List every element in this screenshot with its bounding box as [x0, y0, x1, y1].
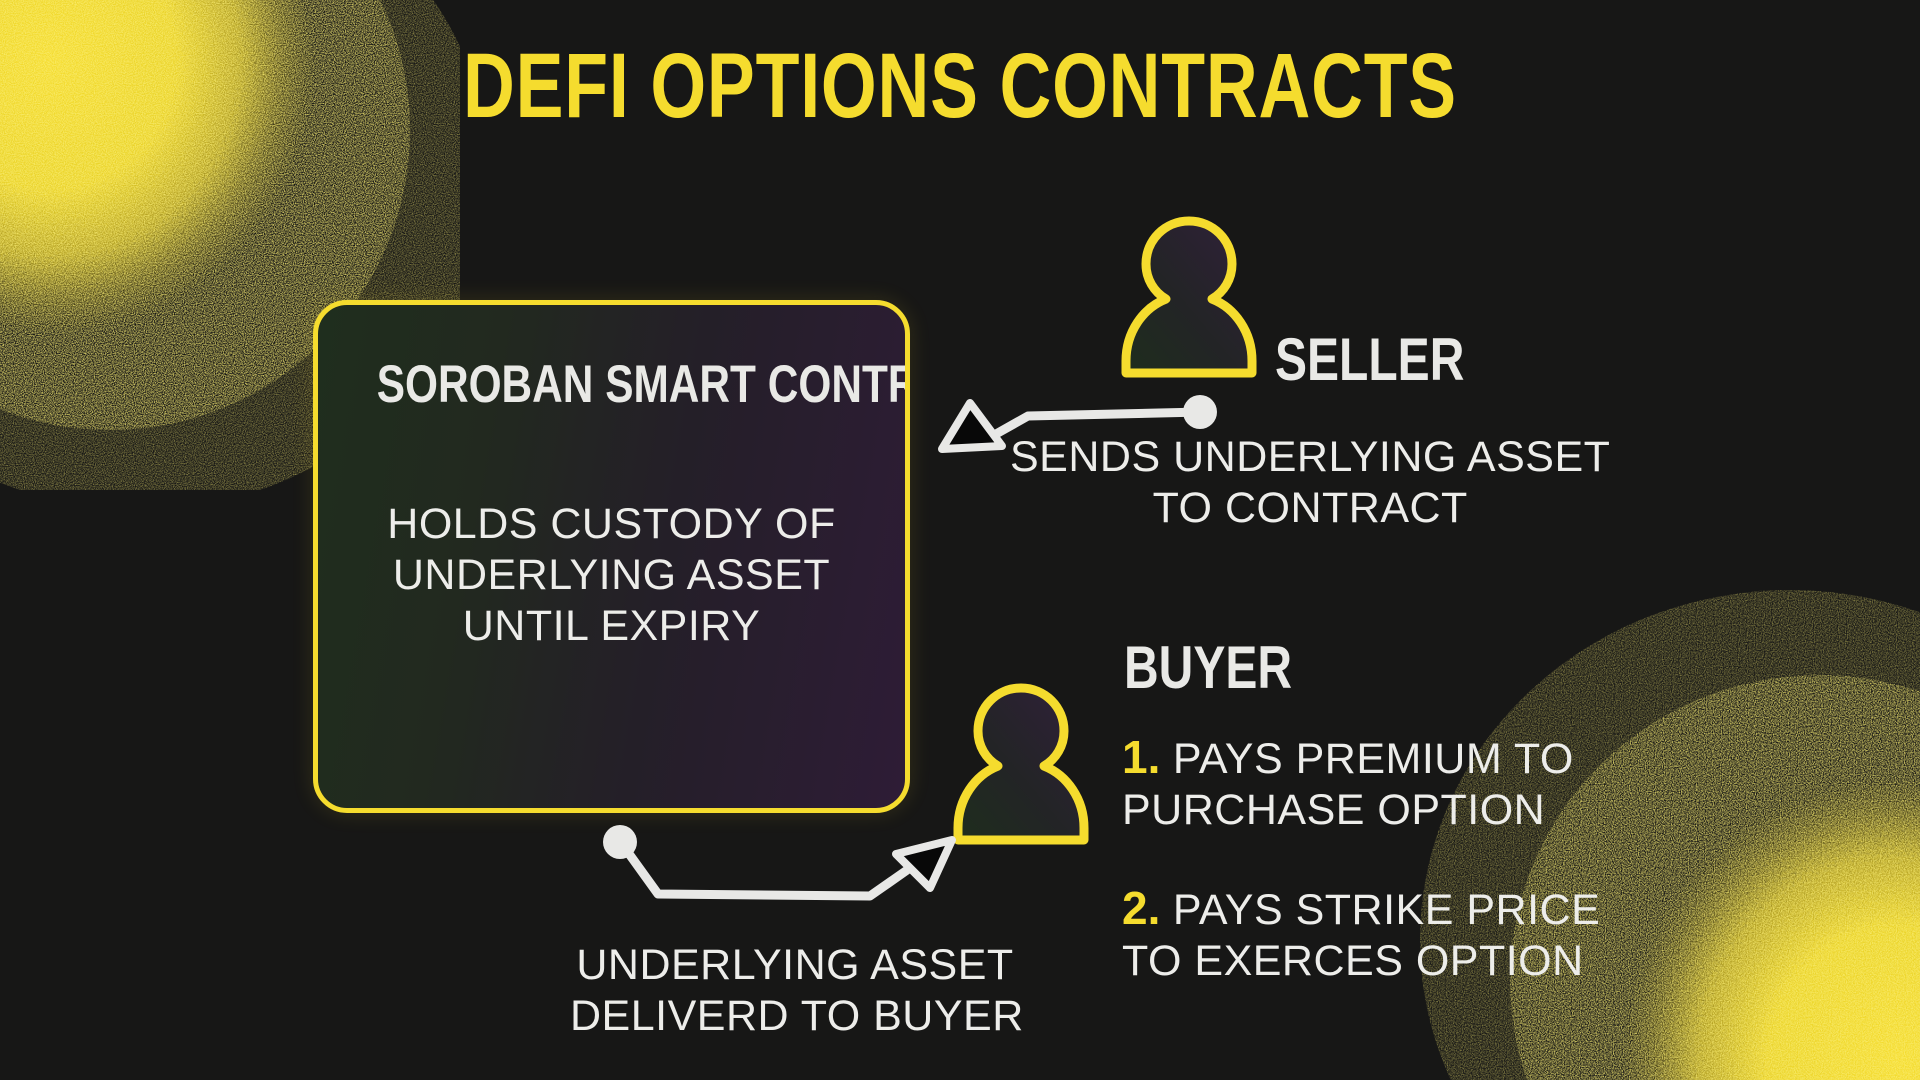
- contract-body-line: UNTIL EXPIRY: [344, 601, 879, 652]
- buyer-step-item: 2. PAYS STRIKE PRICE TO EXERCES OPTION: [1122, 881, 1622, 986]
- seller-label: SELLER: [1275, 330, 1464, 390]
- buyer-steps-list: 1. PAYS PREMIUM TO PURCHASE OPTION 2. PA…: [1122, 730, 1622, 987]
- buyer-step-line: PAYS PREMIUM TO: [1173, 735, 1574, 783]
- buyer-step-line: PAYS STRIKE PRICE: [1173, 886, 1600, 934]
- seller-caption-line: TO CONTRACT: [1010, 483, 1610, 534]
- buyer-step-number: 2.: [1122, 882, 1160, 934]
- seller-person-icon: [1118, 213, 1260, 381]
- contract-card-heading: SOROBAN SMART CONTRACT: [377, 358, 847, 411]
- buyer-step-first-line: 1. PAYS PREMIUM TO: [1122, 730, 1622, 785]
- buyer-step-first-line: 2. PAYS STRIKE PRICE: [1122, 881, 1622, 936]
- buyer-label: BUYER: [1124, 638, 1292, 698]
- page-title: DEFI OPTIONS CONTRACTS: [211, 40, 1709, 132]
- connector-contract-to-buyer: [580, 820, 1000, 930]
- buyer-step-item: 1. PAYS PREMIUM TO PURCHASE OPTION: [1122, 730, 1622, 835]
- buyer-step-number: 1.: [1122, 731, 1160, 783]
- buyer-step-line: TO EXERCES OPTION: [1122, 936, 1622, 987]
- seller-flow-caption: SENDS UNDERLYING ASSET TO CONTRACT: [1010, 432, 1610, 533]
- contract-card-body: HOLDS CUSTODY OF UNDERLYING ASSET UNTIL …: [318, 499, 905, 652]
- buyer-step-line: PURCHASE OPTION: [1122, 785, 1622, 836]
- contract-body-line: HOLDS CUSTODY OF: [344, 499, 879, 550]
- contract-body-line: UNDERLYING ASSET: [344, 550, 879, 601]
- buyer-caption-line: UNDERLYING ASSET: [570, 940, 1020, 991]
- buyer-person-icon: [950, 680, 1092, 848]
- buyer-flow-caption: UNDERLYING ASSET DELIVERD TO BUYER: [570, 940, 1020, 1041]
- buyer-caption-line: DELIVERD TO BUYER: [570, 991, 1020, 1042]
- seller-caption-line: SENDS UNDERLYING ASSET: [1010, 432, 1610, 483]
- soroban-contract-card: SOROBAN SMART CONTRACT HOLDS CUSTODY OF …: [313, 300, 910, 813]
